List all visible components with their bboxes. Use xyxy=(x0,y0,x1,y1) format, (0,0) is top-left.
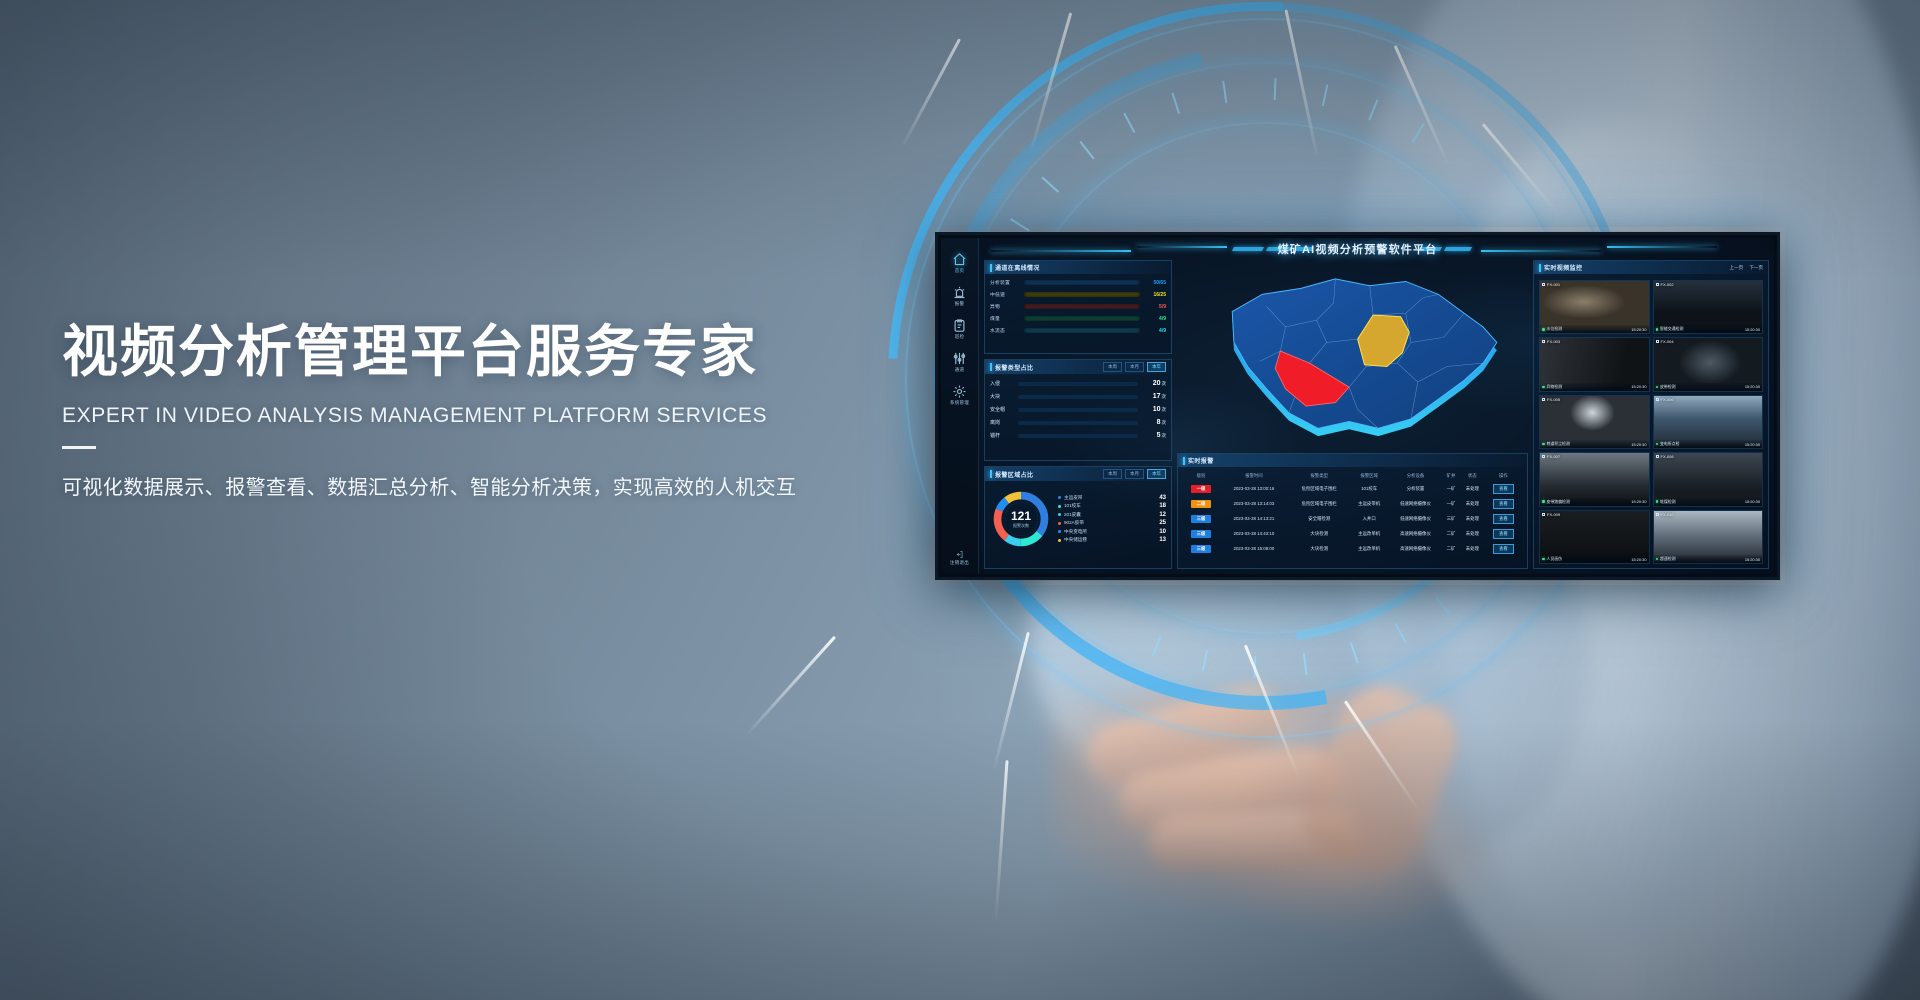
view-button[interactable]: 查看 xyxy=(1493,514,1514,524)
alarm-type-label: 入侵 xyxy=(990,380,1014,387)
dashboard-body: 通道在离线情况 分析装置 50/65 中低速 xyxy=(979,238,1774,574)
alarm-type-label: 大块 xyxy=(990,393,1014,400)
alarm-mine: 一矿 xyxy=(1442,481,1460,496)
alarm-status: 未处理 xyxy=(1460,541,1485,556)
hero-text-block: 视频分析管理平台服务专家 EXPERT IN VIDEO ANALYSIS MA… xyxy=(62,320,796,500)
accent-bar xyxy=(990,363,992,371)
camera-id: FX-002 xyxy=(1656,282,1674,287)
camera-id: FX-006 xyxy=(1656,397,1674,402)
legend-label: 中央变电所 xyxy=(1064,529,1156,535)
status-dot-online xyxy=(1542,386,1545,389)
status-dot-online xyxy=(1542,558,1545,561)
legend-dot xyxy=(1058,522,1061,525)
table-header-row: 级别 报警时间 报警类型 报警区域 分析设备 矿井 状态 操作 xyxy=(1183,471,1522,481)
sidebar-item-alarm[interactable]: 报警 xyxy=(952,285,967,307)
clipboard-icon xyxy=(952,318,967,333)
channel-row: 煤量 4/9 xyxy=(990,315,1166,322)
alarm-status: 未处理 xyxy=(1460,496,1485,511)
camera-footer: 变电所点检 15:20:30 xyxy=(1654,440,1763,448)
alarm-time: 2023-03-28 14:43:10 xyxy=(1219,526,1289,541)
tab-year[interactable]: 本年 xyxy=(1147,362,1166,372)
camera-footer: 超速检测 15:20:30 xyxy=(1654,555,1763,563)
alarm-type-track xyxy=(1018,408,1138,412)
sidebar-item-home[interactable]: 首页 xyxy=(952,252,967,274)
alarm-type-value: 17次 xyxy=(1142,393,1166,400)
panel-header-alarm-types: 报警类型占比 本周 本月 本年 xyxy=(985,360,1171,374)
alarm-type-tabs: 本周 本月 本年 xyxy=(1103,362,1166,372)
camera-footer: 智能交通检测 15:20:30 xyxy=(1654,325,1763,333)
alarm-type: 安全帽检测 xyxy=(1289,511,1350,526)
status-dot-online xyxy=(1542,443,1545,446)
alarm-type-row: 离岗 8次 xyxy=(990,419,1166,426)
alarm-device: 高速网络摄像仪 xyxy=(1389,526,1443,541)
legend-dot xyxy=(1058,505,1061,508)
alarm-area-tabs: 本周 本月 本年 xyxy=(1103,469,1166,479)
donut-caption: 报警次数 xyxy=(1013,523,1029,529)
col-time: 报警时间 xyxy=(1219,471,1289,481)
camera-id: FX-003 xyxy=(1542,339,1560,344)
legend-value: 12 xyxy=(1159,512,1166,518)
legend-value: 10 xyxy=(1159,529,1166,535)
alarm-time: 2023-03-28 13:00:16 xyxy=(1219,481,1289,496)
alarm-type-label: 安全帽 xyxy=(990,406,1014,413)
channel-label: 煤量 xyxy=(990,315,1020,322)
alarm-status: 未处理 xyxy=(1460,481,1485,496)
alarm-area: 主运改单机 xyxy=(1350,541,1389,556)
camera-id: FX-007 xyxy=(1542,454,1560,459)
video-pager: 上一页 下一页 xyxy=(1729,265,1763,271)
alarm-type: 危险区域电子围栏 xyxy=(1289,496,1350,511)
alarm-areas-content: 121 报警次数 主运皮带 43 xyxy=(990,485,1166,550)
hero-description: 可视化数据展示、报警查看、数据汇总分析、智能分析决策，实现高效的人机交互 xyxy=(62,471,796,500)
page-title: 视频分析管理平台服务专家 xyxy=(62,320,796,384)
alarm-type-track xyxy=(1018,434,1138,438)
alarm-type-label: 锚杆 xyxy=(990,432,1014,439)
status-badge: 二级 xyxy=(1191,500,1211,508)
dashboard-root: 煤矿AI视频分析预警软件平台 首页 报警 xyxy=(941,238,1774,574)
alarm-status: 未处理 xyxy=(1460,526,1485,541)
camera-footer: 皮带检测 15:20:30 xyxy=(1654,383,1763,391)
accent-bar xyxy=(990,470,992,478)
panel-alarm-types: 报警类型占比 本周 本月 本年 入侵 20次 xyxy=(984,359,1172,461)
status-badge: 三级 xyxy=(1191,530,1211,538)
donut-chart: 121 报警次数 xyxy=(990,488,1052,550)
alarm-table: 级别 报警时间 报警类型 报警区域 分析设备 矿井 状态 操作 xyxy=(1183,471,1522,556)
col-status: 状态 xyxy=(1460,471,1485,481)
donut-total: 121 xyxy=(1011,510,1031,522)
accent-bar xyxy=(990,264,992,272)
tab-week[interactable]: 本周 xyxy=(1103,469,1122,479)
legend-item: 101绞车 18 xyxy=(1058,503,1166,509)
legend-value: 43 xyxy=(1159,495,1166,501)
dashboard-sidebar: 首页 报警 巡检 通道 xyxy=(941,238,979,574)
hero-subtitle: EXPERT IN VIDEO ANALYSIS MANAGEMENT PLAT… xyxy=(62,404,796,428)
camera-tile[interactable]: FX-005 巷道积尘检测 15:20:30 xyxy=(1539,395,1650,449)
alarm-type-label: 离岗 xyxy=(990,419,1014,426)
camera-tile[interactable]: FX-007 皮带跑偏检测 15:20:30 xyxy=(1539,452,1650,506)
alarm-type-row: 锚杆 5次 xyxy=(990,432,1166,439)
col-action: 操作 xyxy=(1485,471,1522,481)
panel-header-alarm-areas: 报警区域占比 本周 本月 本年 xyxy=(985,467,1171,481)
legend-item: 201皮囊 12 xyxy=(1058,512,1166,518)
status-badge: 三级 xyxy=(1191,545,1211,553)
view-button[interactable]: 查看 xyxy=(1493,499,1514,509)
camera-id: FX-004 xyxy=(1656,339,1674,344)
panel-title-realtime-alarms: 实时报警 xyxy=(1188,456,1214,465)
legend-value: 25 xyxy=(1159,520,1166,526)
sidebar-item-system[interactable]: 系统管理 xyxy=(950,384,969,406)
legend-label: 902A胶带 xyxy=(1064,520,1156,526)
col-type: 报警类型 xyxy=(1289,471,1350,481)
legend-dot xyxy=(1058,496,1061,499)
legend-item: 主运皮带 43 xyxy=(1058,495,1166,501)
donut-legend: 主运皮带 43 101绞车 18 201皮囊 xyxy=(1058,495,1166,544)
alarm-mine: 三矿 xyxy=(1442,511,1460,526)
camera-tile[interactable]: FX-004 皮带检测 15:20:30 xyxy=(1653,337,1764,391)
col-level: 级别 xyxy=(1183,471,1219,481)
view-button[interactable]: 查看 xyxy=(1493,484,1514,494)
next-page-button[interactable]: 下一页 xyxy=(1749,265,1763,271)
channel-value: 50/65 xyxy=(1144,280,1166,286)
donut-center: 121 报警次数 xyxy=(990,488,1052,550)
tab-month[interactable]: 本月 xyxy=(1125,362,1144,372)
panel-header-realtime-alarms: 实时报警 xyxy=(1178,454,1527,467)
channel-track xyxy=(1024,292,1140,297)
alarm-mine: 二矿 xyxy=(1442,526,1460,541)
alarm-area: 主运皮带机 xyxy=(1350,496,1389,511)
panel-video-monitor: 实时视频监控 上一页 下一页 FX-001 xyxy=(1533,260,1769,569)
accent-bar xyxy=(1539,264,1541,272)
sidebar-item-channel[interactable]: 通道 xyxy=(952,351,967,373)
tab-month[interactable]: 本月 xyxy=(1125,469,1144,479)
legend-item: 中央储运巷 13 xyxy=(1058,537,1166,543)
camera-footer: 巷道积尘检测 15:20:30 xyxy=(1540,440,1649,448)
hero-divider xyxy=(62,446,96,449)
legend-dot xyxy=(1058,539,1061,542)
channel-row: 水流态 4/9 xyxy=(990,327,1166,334)
channel-value: 4/9 xyxy=(1144,328,1166,334)
legend-label: 中央储运巷 xyxy=(1064,537,1156,543)
alarm-status: 未处理 xyxy=(1460,511,1485,526)
alarm-type-row: 安全帽 10次 xyxy=(990,406,1166,413)
channel-label: 分析装置 xyxy=(990,279,1020,286)
alarm-time: 2023-03-28 14:13:21 xyxy=(1219,511,1289,526)
channel-row: 中低速 16/25 xyxy=(990,291,1166,298)
camera-footer: 异物检测 15:20:30 xyxy=(1540,383,1649,391)
sidebar-label-channel: 通道 xyxy=(955,367,965,373)
camera-footer: 水位检测 15:20:30 xyxy=(1540,325,1649,333)
tab-year[interactable]: 本年 xyxy=(1147,469,1166,479)
sidebar-label-alarm: 报警 xyxy=(955,301,965,307)
alarm-area: 101绞车 xyxy=(1350,481,1389,496)
channel-value: 16/25 xyxy=(1144,292,1166,298)
legend-label: 201皮囊 xyxy=(1064,512,1156,518)
sidebar-label-inspection: 巡检 xyxy=(955,334,965,340)
col-area: 报警区域 xyxy=(1350,471,1389,481)
dashboard-header: 煤矿AI视频分析预警软件平台 xyxy=(941,238,1774,262)
panel-title-channels: 通道在离线情况 xyxy=(995,263,1040,272)
status-dot-online xyxy=(1656,328,1659,331)
table-row[interactable]: 一级 2023-03-28 13:00:16 危险区域电子围栏 101绞车 分析… xyxy=(1183,481,1522,496)
center-column: 实时报警 级别 报警时间 报警类型 报警区域 分析设备 矿井 状态 xyxy=(1177,260,1528,569)
sidebar-item-logout[interactable]: 注销退出 xyxy=(950,550,969,566)
table-row[interactable]: 三级 2023-03-28 14:13:21 安全帽检测 入井口 低速网络摄像仪… xyxy=(1183,511,1522,526)
alarm-device: 低速网络摄像仪 xyxy=(1389,496,1443,511)
channel-track xyxy=(1024,304,1140,309)
view-button[interactable]: 查看 xyxy=(1493,529,1514,539)
alarm-type: 大块检测 xyxy=(1289,541,1350,556)
alarm-type-value: 5次 xyxy=(1142,432,1166,439)
gear-icon xyxy=(952,384,967,399)
legend-label: 101绞车 xyxy=(1064,503,1156,509)
channel-value: 5/9 xyxy=(1144,304,1166,310)
legend-dot xyxy=(1058,513,1061,516)
camera-tile[interactable]: FX-002 智能交通检测 15:20:30 xyxy=(1653,280,1764,334)
channel-row: 异物 5/9 xyxy=(990,303,1166,310)
panel-header-channels: 通道在离线情况 xyxy=(985,261,1171,274)
alarm-device: 分析装置 xyxy=(1389,481,1443,496)
channel-label: 水流态 xyxy=(990,327,1020,334)
camera-id: FX-001 xyxy=(1542,282,1560,287)
alarm-device: 高速网络摄像仪 xyxy=(1389,541,1443,556)
alarm-type-track xyxy=(1018,421,1138,425)
province-map[interactable] xyxy=(1177,260,1528,449)
dashboard-title: 煤矿AI视频分析预警软件平台 xyxy=(941,241,1774,257)
alarm-type: 危险区域电子围栏 xyxy=(1289,481,1350,496)
panel-header-video: 实时视频监控 上一页 下一页 xyxy=(1534,261,1768,274)
alarm-time: 2023-03-28 15:08:00 xyxy=(1219,541,1289,556)
alarm-type-row: 大块 17次 xyxy=(990,393,1166,400)
panel-title-video: 实时视频监控 xyxy=(1544,263,1582,272)
accent-bar xyxy=(1183,457,1185,465)
channel-track xyxy=(1024,316,1140,321)
camera-tile[interactable]: FX-006 变电所点检 15:20:30 xyxy=(1653,395,1764,449)
status-dot-online xyxy=(1542,500,1545,503)
status-dot-online xyxy=(1656,443,1659,446)
panel-channels: 通道在离线情况 分析装置 50/65 中低速 xyxy=(984,260,1172,354)
home-icon xyxy=(952,252,967,267)
status-badge: 三级 xyxy=(1191,515,1211,523)
alarm-type: 大块检测 xyxy=(1289,526,1350,541)
alarm-area: 主运改单机 xyxy=(1350,526,1389,541)
sidebar-item-inspection[interactable]: 巡检 xyxy=(952,318,967,340)
channel-rows: 分析装置 50/65 中低速 1 xyxy=(990,279,1166,334)
alarm-type-track xyxy=(1018,382,1138,386)
channel-value: 4/9 xyxy=(1144,316,1166,322)
tab-week[interactable]: 本周 xyxy=(1103,362,1122,372)
camera-id: FX-005 xyxy=(1542,397,1560,402)
status-dot-online xyxy=(1656,500,1659,503)
view-button[interactable]: 查看 xyxy=(1493,544,1514,554)
camera-footer: 堆煤检测 15:20:30 xyxy=(1654,498,1763,506)
panel-alarm-areas: 报警区域占比 本周 本月 本年 xyxy=(984,466,1172,569)
alarm-time: 2023-03-28 13:14:03 xyxy=(1219,496,1289,511)
channel-track xyxy=(1024,328,1140,333)
page-stage: 视频分析管理平台服务专家 EXPERT IN VIDEO ANALYSIS MA… xyxy=(0,0,1920,1000)
sidebar-label-system: 系统管理 xyxy=(950,400,969,406)
alarm-icon xyxy=(952,285,967,300)
alarm-mine: 一矿 xyxy=(1442,496,1460,511)
sliders-icon xyxy=(952,351,967,366)
table-row[interactable]: 二级 2023-03-28 13:14:03 危险区域电子围栏 主运皮带机 低速… xyxy=(1183,496,1522,511)
alarm-type-rows: 入侵 20次 大块 17次 安全帽 xyxy=(990,380,1166,439)
status-badge: 一级 xyxy=(1191,485,1211,493)
panel-realtime-alarms: 实时报警 级别 报警时间 报警类型 报警区域 分析设备 矿井 状态 xyxy=(1177,453,1528,569)
legend-value: 13 xyxy=(1159,537,1166,543)
sidebar-label-logout: 注销退出 xyxy=(950,560,969,566)
alarm-type-track xyxy=(1018,395,1138,399)
status-dot-online xyxy=(1656,386,1659,389)
alarm-type-value: 20次 xyxy=(1142,380,1166,387)
table-row[interactable]: 三级 2023-03-28 14:43:10 大块检测 主运改单机 高速网络摄像… xyxy=(1183,526,1522,541)
dashboard-screen: 煤矿AI视频分析预警软件平台 首页 报警 xyxy=(935,232,1780,580)
channel-label: 中低速 xyxy=(990,291,1020,298)
channel-track xyxy=(1024,280,1140,285)
alarm-type-value: 8次 xyxy=(1142,419,1166,426)
channel-row: 分析装置 50/65 xyxy=(990,279,1166,286)
legend-dot xyxy=(1058,530,1061,533)
panel-title-alarm-areas: 报警区域占比 xyxy=(995,470,1033,479)
camera-tile[interactable]: FX-010 超速检测 15:20:30 xyxy=(1653,510,1764,564)
camera-tile[interactable]: FX-009 人员画伤 15:20:30 xyxy=(1539,510,1650,564)
legend-label: 主运皮带 xyxy=(1064,495,1156,501)
camera-tile[interactable]: FX-003 异物检测 15:20:30 xyxy=(1539,337,1650,391)
panel-title-alarm-types: 报警类型占比 xyxy=(995,363,1033,372)
camera-id: FX-009 xyxy=(1542,512,1560,517)
alarm-mine: 二矿 xyxy=(1442,541,1460,556)
camera-footer: 人员画伤 15:20:30 xyxy=(1540,555,1649,563)
table-row[interactable]: 三级 2023-03-28 15:08:00 大块检测 主运改单机 高速网络摄像… xyxy=(1183,541,1522,556)
col-device: 分析设备 xyxy=(1389,471,1443,481)
status-dot-online xyxy=(1656,558,1659,561)
legend-item: 902A胶带 25 xyxy=(1058,520,1166,526)
camera-tile[interactable]: FX-001 水位检测 15:20:30 xyxy=(1539,280,1650,334)
left-column: 通道在离线情况 分析装置 50/65 中低速 xyxy=(984,260,1172,569)
sidebar-label-home: 首页 xyxy=(955,268,965,274)
camera-grid: FX-001 水位检测 15:20:30 FX-002 xyxy=(1539,280,1763,564)
alarm-type-row: 入侵 20次 xyxy=(990,380,1166,387)
logout-icon xyxy=(955,550,964,559)
camera-tile[interactable]: FX-008 堆煤检测 15:20:30 xyxy=(1653,452,1764,506)
channel-label: 异物 xyxy=(990,303,1020,310)
camera-footer: 皮带跑偏检测 15:20:30 xyxy=(1540,498,1649,506)
status-dot-online xyxy=(1542,328,1545,331)
col-mine: 矿井 xyxy=(1442,471,1460,481)
alarm-device: 低速网络摄像仪 xyxy=(1389,511,1443,526)
camera-id: FX-010 xyxy=(1656,512,1674,517)
camera-id: FX-008 xyxy=(1656,454,1674,459)
alarm-type-value: 10次 xyxy=(1142,406,1166,413)
legend-item: 中央变电所 10 xyxy=(1058,529,1166,535)
legend-value: 18 xyxy=(1159,503,1166,509)
right-column: 实时视频监控 上一页 下一页 FX-001 xyxy=(1533,260,1769,569)
alarm-area: 入井口 xyxy=(1350,511,1389,526)
prev-page-button[interactable]: 上一页 xyxy=(1729,265,1743,271)
